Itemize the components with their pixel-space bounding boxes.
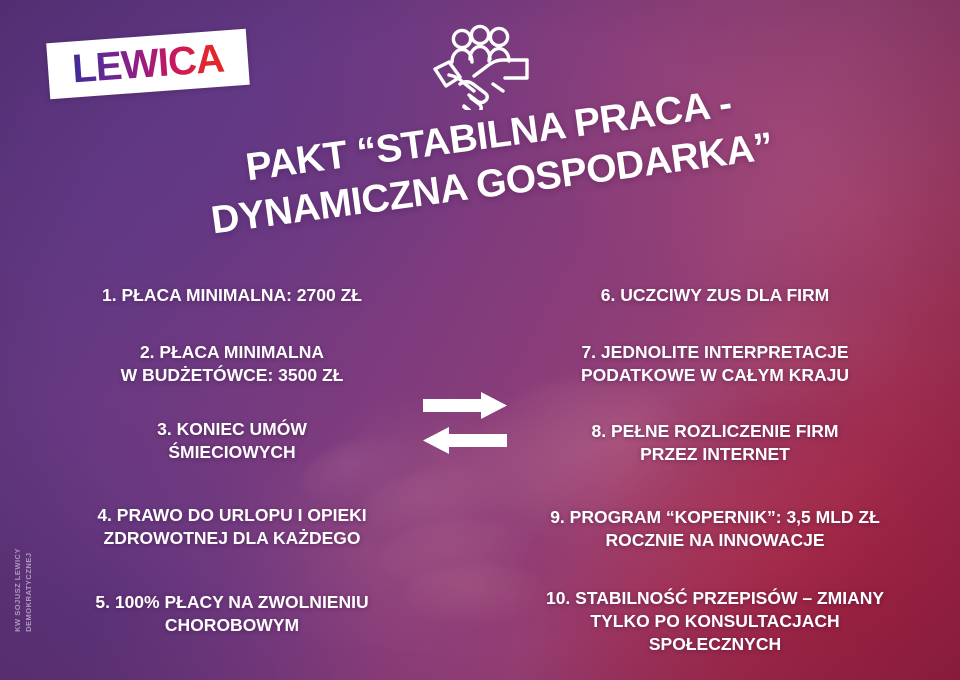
- pledge-item-4: 4. PRAWO DO URLOPU I OPIEKI ZDROWOTNEJ D…: [26, 504, 438, 550]
- committee-line-1: KW SOJUSZ LEWICY: [13, 548, 24, 632]
- pledge-item-8: 8. PEŁNE ROZLICZENIE FIRM PRZEZ INTERNET: [494, 420, 936, 466]
- pledge-item-7: 7. JEDNOLITE INTERPRETACJE PODATKOWE W C…: [494, 341, 936, 387]
- pledge-item-9: 9. PROGRAM “KOPERNIK”: 3,5 MLD ZŁ ROCZNI…: [494, 506, 936, 552]
- committee-line-2: DEMOKRATYCZNEJ: [24, 553, 35, 632]
- pledge-item-1: 1. PŁACA MINIMALNA: 2700 ZŁ: [26, 284, 438, 307]
- exchange-arrows-icon: [419, 392, 511, 454]
- pledge-item-3: 3. KONIEC UMÓW ŚMIECIOWYCH: [26, 418, 438, 464]
- pledge-item-6: 6. UCZCIWY ZUS DLA FIRM: [494, 284, 936, 307]
- pledge-column-right: 6. UCZCIWY ZUS DLA FIRM 7. JEDNOLITE INT…: [494, 278, 936, 656]
- pledge-item-2: 2. PŁACA MINIMALNA W BUDŻETÓWCE: 3500 ZŁ: [26, 341, 438, 387]
- poster-canvas: LEWICA PAKT “STABILNA PRAC: [0, 0, 960, 680]
- people-handshake-icon: [415, 22, 545, 110]
- pledge-column-left: 1. PŁACA MINIMALNA: 2700 ZŁ 2. PŁACA MIN…: [26, 278, 438, 637]
- committee-disclaimer: KW SOJUSZ LEWICY DEMOKRATYCZNEJ: [13, 502, 35, 632]
- lewica-logo-text: LEWICA: [69, 38, 227, 89]
- pledge-item-5: 5. 100% PŁACY NA ZWOLNIENIU CHOROBOWYM: [26, 591, 438, 637]
- pledge-item-10: 10. STABILNOŚĆ PRZEPISÓW – ZMIANY TYLKO …: [494, 587, 936, 655]
